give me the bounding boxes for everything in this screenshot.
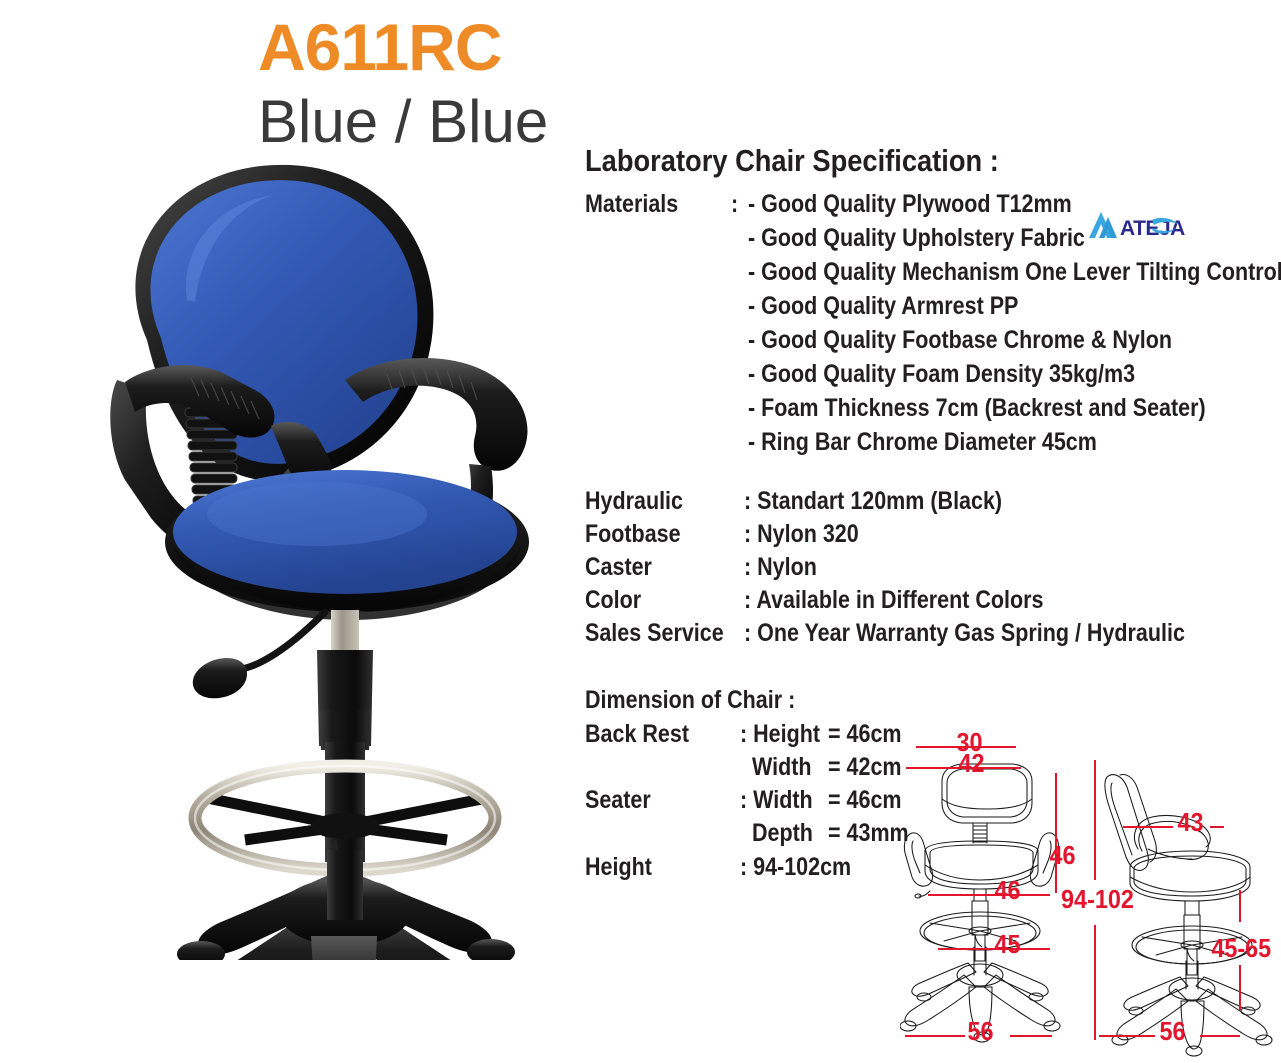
dim-line-ring-range-upper — [1239, 890, 1241, 922]
materials-colon: : — [731, 192, 738, 217]
materials-item: - Good Quality Footbase Chrome & Nylon — [748, 328, 1172, 353]
ateja-brand-logo: ATEJA — [1086, 208, 1206, 242]
spec-row-value: : Nylon 320 — [744, 522, 859, 547]
spec-row-label: Hydraulic — [585, 489, 683, 514]
dim-label-ring-height-range: 45-65 — [1211, 935, 1271, 961]
spec-row-value: : One Year Warranty Gas Spring / Hydraul… — [744, 621, 1185, 646]
product-spec-sheet: A611RC Blue / Blue — [0, 0, 1281, 1063]
dim-label-ring-height: 45 — [994, 931, 1020, 957]
dim-label-backrest-height: 46 — [1049, 842, 1075, 868]
materials-item: - Ring Bar Chrome Diameter 45cm — [748, 430, 1097, 455]
dimension-row-value: = 42cm — [828, 755, 902, 780]
page-subtitle-color: Blue / Blue — [258, 92, 548, 152]
dim-line-base-width-right — [1010, 1035, 1052, 1037]
dimension-row-key: Width — [752, 755, 812, 780]
dim-label-backrest-width-outer: 42 — [958, 750, 984, 776]
dimension-row-label: Height — [585, 855, 652, 880]
dimension-row-value: = 46cm — [828, 788, 902, 813]
dimension-row-value: = 46cm — [828, 722, 902, 747]
dimensions-section-title: Dimension of Chair : — [585, 688, 795, 713]
dimension-row-key: : 94-102cm — [740, 855, 851, 880]
spec-row-value: : Available in Different Colors — [744, 588, 1043, 613]
dim-line-total-height-upper — [1094, 760, 1096, 880]
dim-line-seat-depth-left — [1123, 826, 1173, 828]
dim-line-seat-height — [928, 894, 1050, 896]
spec-row-label: Caster — [585, 555, 652, 580]
dimension-row-label: Back Rest — [585, 722, 689, 747]
spec-section-title: Laboratory Chair Specification : — [585, 145, 999, 176]
materials-item: - Good Quality Mechanism One Lever Tilti… — [748, 260, 1281, 285]
dim-label-side-base-width: 56 — [1159, 1018, 1185, 1044]
spec-row-value: : Nylon — [744, 555, 817, 580]
spec-row-label: Color — [585, 588, 641, 613]
spec-row-label: Sales Service — [585, 621, 724, 646]
dimension-row-key: : Height — [740, 722, 820, 747]
materials-label: Materials — [585, 192, 678, 217]
materials-item: - Good Quality Foam Density 35kg/m3 — [748, 362, 1135, 387]
materials-item: - Good Quality Plywood T12mm — [748, 192, 1072, 217]
page-title-model-code: A611RC — [258, 14, 501, 80]
dimension-row-key: Depth — [752, 821, 813, 846]
dim-line-base-width-left — [905, 1035, 965, 1037]
dim-line-backrest-height — [1055, 773, 1057, 893]
dim-label-front-base-width: 56 — [967, 1018, 993, 1044]
dim-line-total-height-lower — [1094, 925, 1096, 1040]
materials-item: - Good Quality Armrest PP — [748, 294, 1018, 319]
dim-label-seat-depth: 43 — [1177, 809, 1203, 835]
dimension-row-label: Seater — [585, 788, 651, 813]
side-view-line-drawing — [1100, 725, 1281, 1063]
materials-item: - Good Quality Upholstery Fabric — [748, 226, 1085, 251]
dimension-row-value: = 43mm — [828, 821, 909, 846]
spec-row-label: Footbase — [585, 522, 681, 547]
materials-item: - Foam Thickness 7cm (Backrest and Seate… — [748, 396, 1206, 421]
dim-line-side-base-width-right — [1200, 1035, 1240, 1037]
dim-line-seat-depth-right — [1210, 826, 1224, 828]
dim-label-seat-height: 46 — [994, 877, 1020, 903]
dim-line-side-base-width-left — [1099, 1035, 1155, 1037]
spec-row-value: : Standart 120mm (Black) — [744, 489, 1002, 514]
dimension-row-key: : Width — [740, 788, 813, 813]
dim-line-ring-range-lower — [1239, 965, 1241, 1010]
chair-product-photo — [95, 150, 595, 960]
